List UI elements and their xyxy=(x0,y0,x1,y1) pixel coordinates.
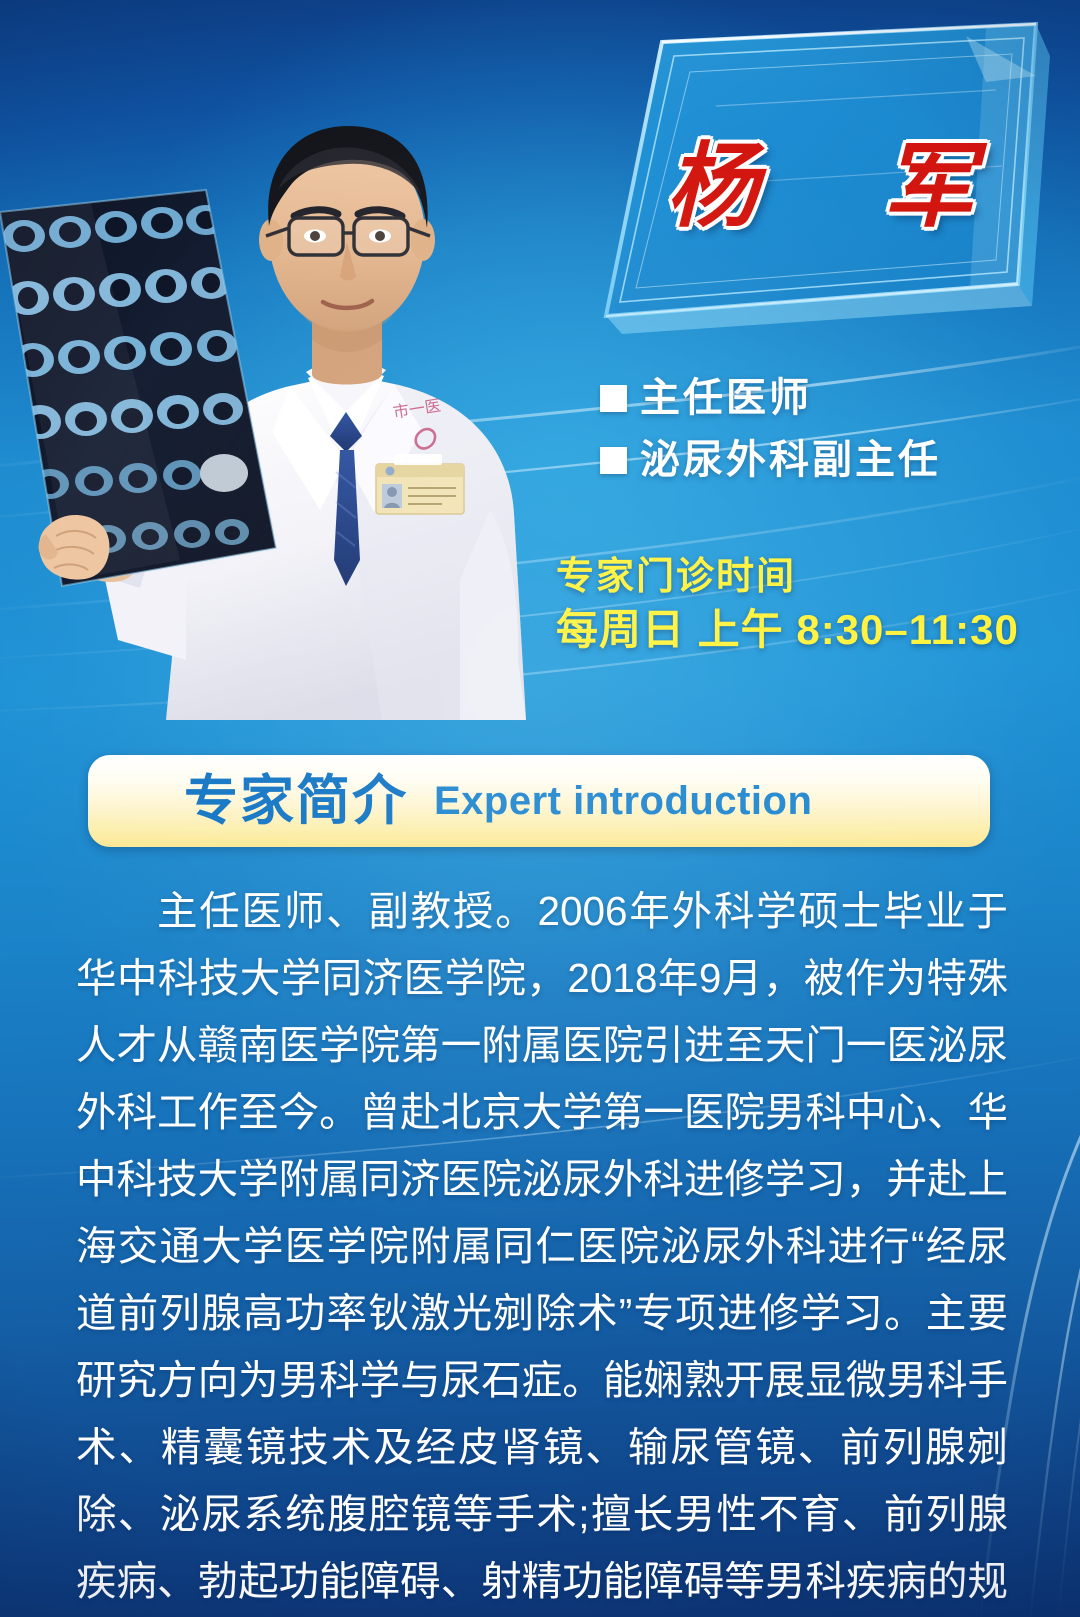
expert-profile-poster: 杨 军 xyxy=(0,0,1080,1617)
doctor-name: 杨 军 xyxy=(620,112,1020,245)
square-bullet-icon xyxy=(600,447,627,474)
credential-item: 主任医师 xyxy=(600,378,1060,418)
clinic-hours-title: 专家门诊时间 xyxy=(556,552,1056,603)
section-title-cn: 专家简介 xyxy=(184,774,408,828)
section-banner: 专家简介 Expert introduction xyxy=(88,755,990,847)
expert-biography-text: 主任医师、副教授。2006年外科学硕士毕业于华中科技大学同济医学院，2018年9… xyxy=(76,878,1008,1617)
clinic-hours-schedule: 每周日 上午 8:30–11:30 xyxy=(556,603,1056,658)
hand-upper xyxy=(39,515,110,580)
section-title-en: Expert introduction xyxy=(434,781,812,821)
credentials-list: 主任医师 泌尿外科副主任 xyxy=(600,378,1060,502)
credential-label: 泌尿外科副主任 xyxy=(640,440,941,480)
credential-item: 泌尿外科副主任 xyxy=(600,440,1060,480)
doctor-portrait: 市一医 xyxy=(0,40,590,720)
square-bullet-icon xyxy=(600,385,627,412)
credential-label: 主任医师 xyxy=(640,378,812,418)
clinic-hours-block: 专家门诊时间 每周日 上午 8:30–11:30 xyxy=(556,552,1056,658)
